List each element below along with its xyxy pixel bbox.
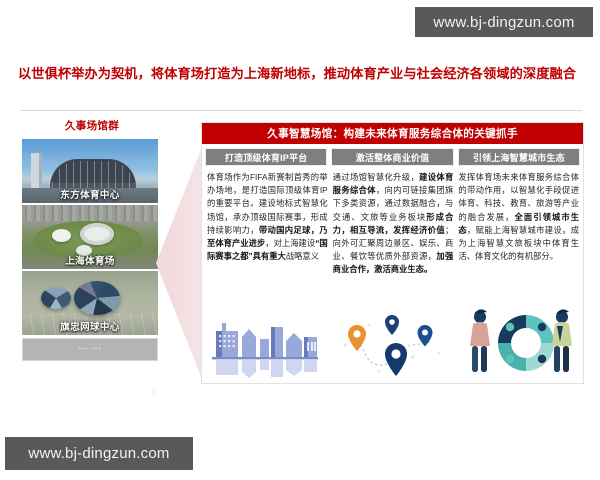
column-body-text: 通过场馆智慧化升级，建设体育服务综合体，向内可链接集团旗下多类资源，通过数据融合…: [333, 171, 454, 277]
tower-shape-icon: [31, 153, 42, 189]
venue-label: 旗忠网球中心: [22, 319, 158, 333]
column-ip-platform: 体育场作为FIFA新赛制首秀的举办场地，是打造国际顶级体育IP的重要平台。建设地…: [207, 171, 328, 277]
illustration-map-pins: [329, 305, 456, 383]
panel-banner-title: 久事智慧场馆：构建未来体育服务综合体的关键抓手: [202, 123, 583, 144]
arrow-connector-icon: [156, 142, 204, 384]
venue-placeholder-bar: ••• •••: [22, 338, 158, 361]
illustration-city-skyline: [202, 305, 329, 383]
petal-roof-small-icon: [41, 287, 71, 309]
pillar-tab-row: 打造顶级体育IP平台 激活整体商业价值 引领上海智慧城市生态: [202, 144, 583, 169]
illustration-puzzle-teamwork: [456, 305, 583, 383]
person-right-icon: [552, 309, 572, 372]
illustration-row: [202, 305, 583, 383]
tab-smart-city[interactable]: 引领上海智慧城市生态: [458, 148, 580, 166]
column-smart-city: 发挥体育场未来体育服务综合体的带动作用，以智慧化手段促进体育、科技、教育、旅游等…: [458, 171, 579, 277]
pillar-column-row: 体育场作为FIFA新赛制首秀的举办场地，是打造国际顶级体育IP的重要平台。建设地…: [202, 169, 583, 277]
column-body-text: 发挥体育场未来体育服务综合体的带动作用，以智慧化手段促进体育、科技、教育、旅游等…: [458, 171, 579, 263]
arena-dome-icon: [52, 229, 71, 242]
city-texture-icon: [22, 205, 158, 221]
petal-roof-large-icon: [74, 281, 120, 315]
stadium-bowl-icon: [80, 223, 114, 245]
page-title: 以世俱杯举办为契机，将体育场打造为上海新地标，推动体育产业与社会经济各领域的深度…: [18, 64, 584, 83]
title-divider: [20, 110, 582, 111]
puzzle-teamwork-icon: [458, 305, 582, 383]
venue-group-heading: 久事场馆群: [22, 118, 162, 133]
page-number: 3: [152, 390, 156, 397]
watermark-bottom: www.bj-dingzun.com: [5, 437, 193, 470]
venue-card-qizhong-tennis-center[interactable]: 旗忠网球中心: [22, 271, 158, 335]
city-skyline-icon: [208, 317, 320, 379]
smart-venue-panel: 久事智慧场馆：构建未来体育服务综合体的关键抓手 打造顶级体育IP平台 激活整体商…: [201, 122, 584, 384]
tab-ip-platform[interactable]: 打造顶级体育IP平台: [205, 148, 327, 166]
venue-card-oriental-sports-center[interactable]: 东方体育中心: [22, 139, 158, 203]
tab-commercial-value[interactable]: 激活整体商业价值: [331, 148, 453, 166]
person-left-icon: [470, 309, 490, 372]
map-pins-icon: [335, 311, 453, 381]
column-commercial-value: 通过场馆智慧化升级，建设体育服务综合体，向内可链接集团旗下多类资源，通过数据融合…: [333, 171, 454, 277]
slide-canvas: www.bj-dingzun.com www.bj-dingzun.com 以世…: [0, 0, 600, 480]
slide-title-block: 以世俱杯举办为契机，将体育场打造为上海新地标，推动体育产业与社会经济各领域的深度…: [18, 64, 584, 83]
venue-label: 东方体育中心: [22, 187, 158, 201]
venue-label: 上海体育场: [22, 253, 158, 267]
venue-card-shanghai-stadium[interactable]: 上海体育场: [22, 205, 158, 269]
watermark-top: www.bj-dingzun.com: [415, 7, 593, 37]
arena-ribs-icon: [52, 161, 134, 189]
venue-group-panel: 久事场馆群 东方体育中心 上海体育场 旗忠网球中心 ••• •••: [22, 118, 162, 361]
column-body-text: 体育场作为FIFA新赛制首秀的举办场地，是打造国际顶级体育IP的重要平台。建设地…: [207, 171, 328, 263]
placeholder-dots: ••• •••: [78, 346, 102, 353]
